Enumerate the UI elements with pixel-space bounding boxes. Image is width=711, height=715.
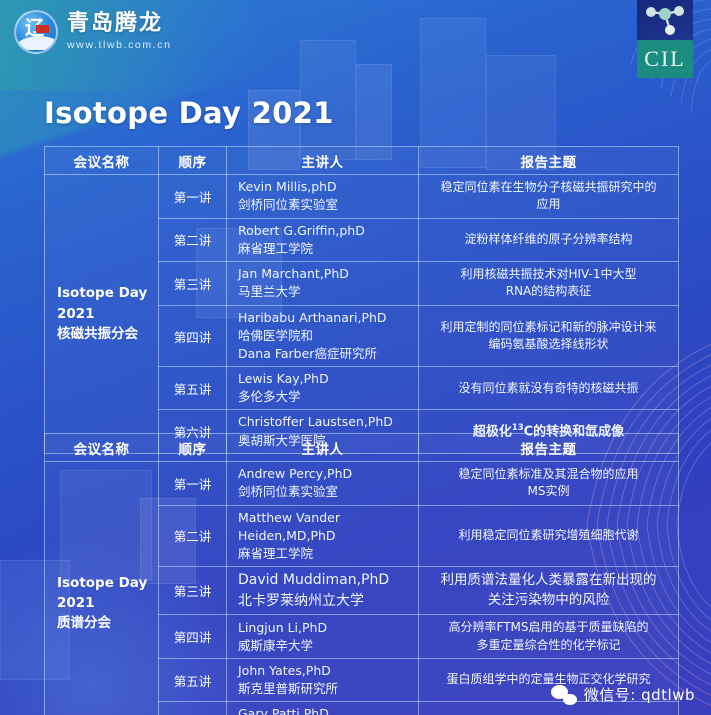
speaker-cell: David Muddiman,PhD北卡罗莱纳州立大学 (227, 567, 419, 615)
speaker-line: 马里兰大学 (238, 283, 414, 301)
topic-cell: 淀粉样体纤维的原子分辨率结构 (419, 218, 679, 261)
speaker-line: 威斯康辛大学 (238, 637, 414, 655)
topic-line: 利用稳定同位素研究增殖细胞代谢 (429, 527, 668, 544)
brand-url: www.tlwb.com.cn (67, 40, 172, 51)
table-row: Isotope Day2021核磁共振分会第一讲Kevin Millis,phD… (45, 175, 679, 219)
emblem-wave (14, 36, 58, 50)
topic-line: RNA的结构表征 (429, 283, 668, 300)
speaker-line: Matthew Vander Heiden,MD,PhD (238, 509, 414, 545)
speaker-line: Haribabu Arthanari,PhD (238, 309, 414, 327)
emblem-red-chip (36, 25, 49, 33)
speaker-cell: Kevin Millis,phD剑桥同位素实验室 (227, 175, 419, 219)
topic-line: 利用核磁共振技术对HIV-1中大型 (429, 266, 668, 283)
speaker-cell: Andrew Percy,PhD剑桥同位素实验室 (227, 462, 419, 506)
column-header-speaker: 主讲人 (227, 147, 419, 175)
speaker-line: 斯克里普斯研究所 (238, 680, 414, 698)
order-cell: 第二讲 (159, 505, 227, 566)
topic-cell: 利用定制的同位素标记和新的脉冲设计来编码氨基酸选择线形状 (419, 305, 679, 366)
column-header-order: 顺序 (159, 434, 227, 462)
column-header-topic: 报告主题 (419, 434, 679, 462)
speaker-line: Gary Patti,PhD (238, 705, 414, 715)
topic-line: 利用定制的同位素标记和新的脉冲设计来 (429, 319, 668, 336)
order-cell: 第四讲 (159, 305, 227, 366)
speaker-line: Kevin Millis,phD (238, 178, 414, 196)
brand-name: 青岛腾龙 (67, 13, 172, 35)
speaker-line: 多伦多大学 (238, 388, 414, 406)
speaker-line: 哈佛医学院和 (238, 327, 414, 345)
speaker-line: John Yates,PhD (238, 662, 414, 680)
speaker-line: 剑桥同位素实验室 (238, 196, 414, 214)
topic-cell: 高分辨率FTMS启用的基于质量缺陷的多重定量综合性的化学标记 (419, 615, 679, 659)
brand-logo: 辽 青岛腾龙 www.tlwb.com.cn (14, 10, 172, 54)
poster-root: 辽 青岛腾龙 www.tlwb.com.cn CIL (0, 0, 711, 715)
conference-name-line: 质谱分会 (57, 613, 154, 633)
order-cell: 第五讲 (159, 659, 227, 702)
order-cell: 第六讲 (159, 702, 227, 715)
speaker-line: 麻省理工学院 (238, 545, 414, 563)
speaker-line: Lingjun Li,PhD (238, 619, 414, 637)
page-title: Isotope Day 2021 (44, 96, 334, 130)
molecule-icon (637, 0, 693, 40)
ms-schedule-table: 会议名称 顺序 主讲人 报告主题 Isotope Day2021质谱分会第一讲A… (44, 433, 679, 715)
column-header-topic: 报告主题 (419, 147, 679, 175)
speaker-line: Robert G.Griffin,phD (238, 222, 414, 240)
table-header-row: 会议名称 顺序 主讲人 报告主题 (45, 147, 679, 175)
column-header-conference: 会议名称 (45, 434, 159, 462)
column-header-speaker: 主讲人 (227, 434, 419, 462)
topic-cell: 稳定同位素在生物分子核磁共振研究中的应用 (419, 175, 679, 219)
order-cell: 第一讲 (159, 175, 227, 219)
speaker-line: David Muddiman,PhD (238, 570, 414, 590)
speaker-cell: Matthew Vander Heiden,MD,PhD麻省理工学院 (227, 505, 419, 566)
speaker-line: 麻省理工学院 (238, 240, 414, 258)
order-cell: 第三讲 (159, 567, 227, 615)
conference-name-cell: Isotope Day2021核磁共振分会 (45, 175, 159, 454)
company-emblem-icon: 辽 (14, 10, 58, 54)
conference-name-line: 2021 (57, 593, 154, 613)
speaker-line: Andrew Percy,PhD (238, 465, 414, 483)
conference-name-line: 核磁共振分会 (57, 324, 154, 344)
conference-name-line: Isotope Day (57, 573, 154, 593)
speaker-line: Christoffer Laustsen,PhD (238, 413, 414, 431)
wechat-id-text: 微信号: qdtlwb (584, 684, 695, 705)
wechat-icon (551, 685, 577, 705)
topic-cell: 稳定同位素标准及其混合物的应用MS实例 (419, 462, 679, 506)
topic-cell: 利用核磁共振技术对HIV-1中大型RNA的结构表征 (419, 262, 679, 306)
order-cell: 第一讲 (159, 462, 227, 506)
topic-line: 淀粉样体纤维的原子分辨率结构 (429, 231, 668, 248)
topic-cell: 利用稳定同位素研究增殖细胞代谢 (419, 505, 679, 566)
speaker-cell: Gary Patti,PhD华盛顿大学博士 (227, 702, 419, 715)
ms-table-body: Isotope Day2021质谱分会第一讲Andrew Percy,PhD剑桥… (45, 462, 679, 715)
wechat-footer: 微信号: qdtlwb (551, 684, 695, 705)
speaker-cell: Lewis Kay,PhD多伦多大学 (227, 367, 419, 410)
topic-cell: 利用质谱法量化人类暴露在新出现的关注污染物中的风险 (419, 567, 679, 615)
order-cell: 第四讲 (159, 615, 227, 659)
speaker-cell: Lingjun Li,PhD威斯康辛大学 (227, 615, 419, 659)
column-header-conference: 会议名称 (45, 147, 159, 175)
topic-line: 关注污染物中的风险 (429, 591, 668, 611)
topic-line: MS实例 (429, 483, 668, 500)
topic-line: 稳定同位素标准及其混合物的应用 (429, 466, 668, 483)
table-row: Isotope Day2021质谱分会第一讲Andrew Percy,PhD剑桥… (45, 462, 679, 506)
topic-cell: 没有同位素就没有奇特的核磁共振 (419, 367, 679, 410)
nmr-schedule-table: 会议名称 顺序 主讲人 报告主题 Isotope Day2021核磁共振分会第一… (44, 146, 679, 454)
topic-line: 应用 (429, 196, 668, 213)
speaker-line: 北卡罗莱纳州立大学 (238, 591, 414, 611)
order-cell: 第三讲 (159, 262, 227, 306)
topic-line: 高分辨率FTMS启用的基于质量缺陷的 (429, 619, 668, 636)
topic-line: 没有同位素就没有奇特的核磁共振 (429, 380, 668, 397)
speaker-cell: Haribabu Arthanari,PhD哈佛医学院和Dana Farber癌… (227, 305, 419, 366)
conference-name-cell: Isotope Day2021质谱分会 (45, 462, 159, 715)
conference-name-line: Isotope Day (57, 283, 154, 303)
conference-name-line: 2021 (57, 304, 154, 324)
order-cell: 第二讲 (159, 218, 227, 261)
speaker-cell: John Yates,PhD斯克里普斯研究所 (227, 659, 419, 702)
brand-text: 青岛腾龙 www.tlwb.com.cn (67, 13, 172, 51)
topic-line: 利用质谱法量化人类暴露在新出现的 (429, 571, 668, 591)
topic-line: 编码氨基酸选择线形状 (429, 336, 668, 353)
speaker-cell: Jan Marchant,PhD马里兰大学 (227, 262, 419, 306)
cil-label: CIL (644, 46, 685, 72)
cil-label-box: CIL (637, 40, 693, 78)
speaker-line: Jan Marchant,PhD (238, 265, 414, 283)
speaker-line: 剑桥同位素实验室 (238, 483, 414, 501)
column-header-order: 顺序 (159, 147, 227, 175)
order-cell: 第五讲 (159, 367, 227, 410)
speaker-line: Lewis Kay,PhD (238, 370, 414, 388)
speaker-cell: Robert G.Griffin,phD麻省理工学院 (227, 218, 419, 261)
topic-line: 稳定同位素在生物分子核磁共振研究中的 (429, 179, 668, 196)
cil-logo: CIL (637, 0, 693, 78)
nmr-table-body: Isotope Day2021核磁共振分会第一讲Kevin Millis,phD… (45, 175, 679, 454)
speaker-line: Dana Farber癌症研究所 (238, 345, 414, 363)
topic-line: 多重定量综合性的化学标记 (429, 637, 668, 654)
table-header-row: 会议名称 顺序 主讲人 报告主题 (45, 434, 679, 462)
